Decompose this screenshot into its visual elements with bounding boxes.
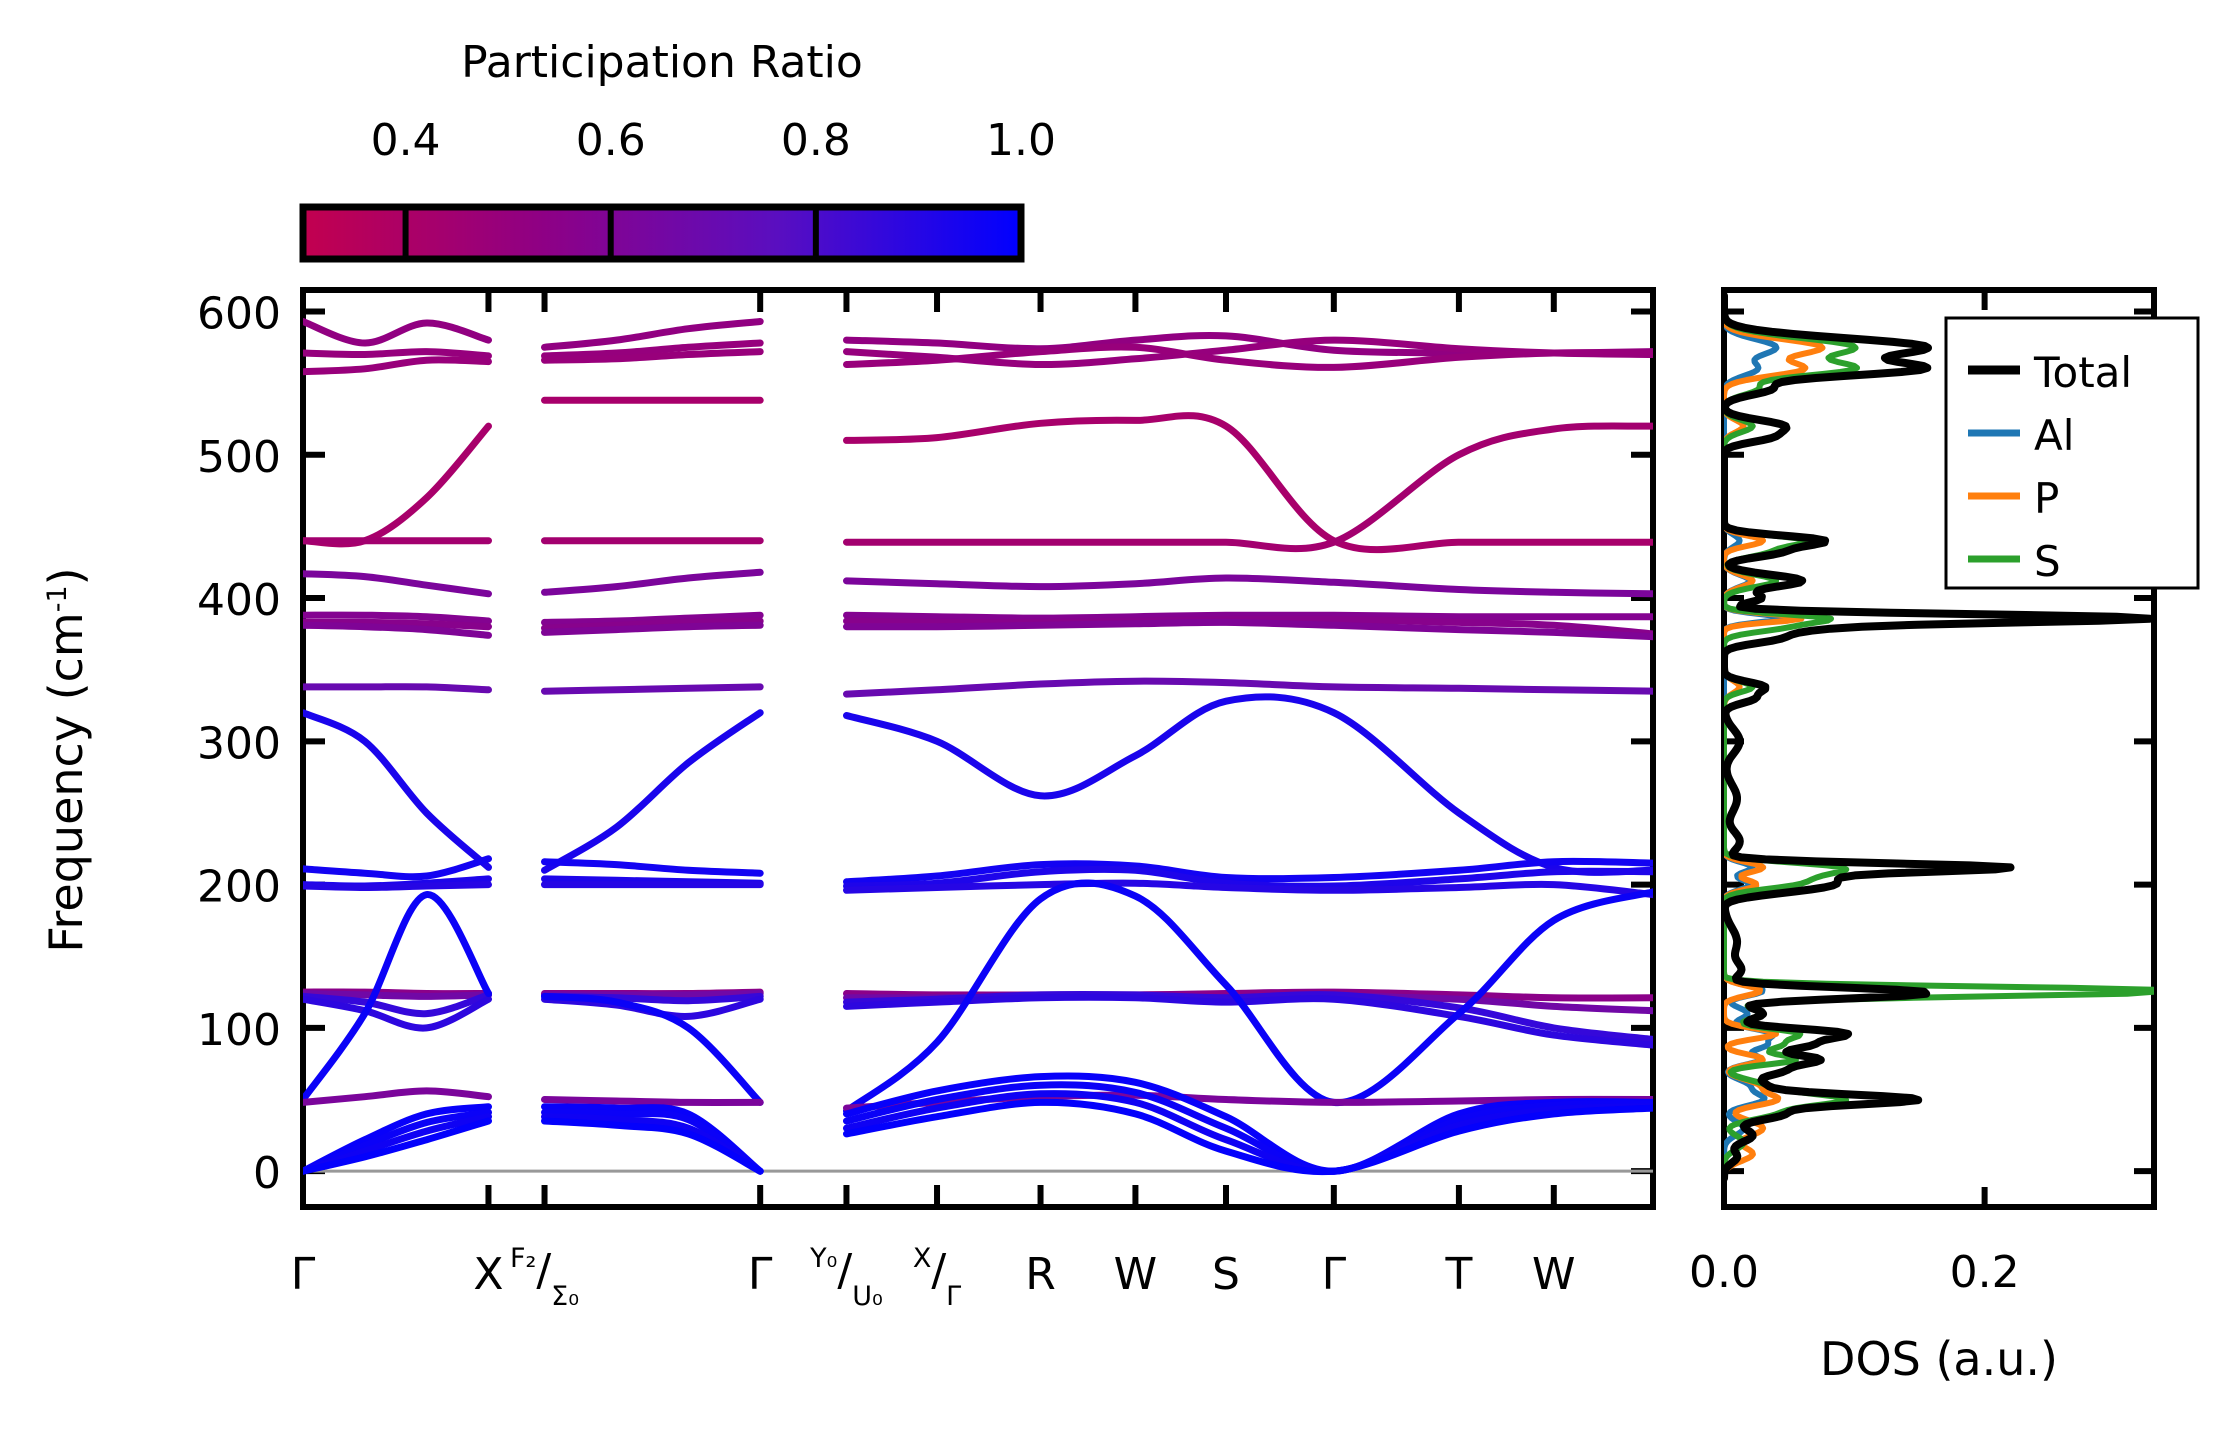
colorbar-tick-label: 1.0 <box>986 115 1056 166</box>
figure-root: Participation Ratio 0.40.60.81.0 Frequen… <box>0 0 2222 1455</box>
phonon-band-dos-figure: Participation Ratio 0.40.60.81.0 Frequen… <box>0 0 2222 1455</box>
y-tick-label: 400 <box>197 575 281 626</box>
x-tick-label: S <box>1212 1249 1240 1300</box>
band-line <box>303 352 489 356</box>
legend-label: Total <box>2033 348 2132 397</box>
colorbar-tick-label: 0.4 <box>371 115 441 166</box>
svg-text:T: T <box>1444 1249 1472 1300</box>
colorbar-tick-label: 0.8 <box>781 115 851 166</box>
x-tick-label: T <box>1444 1249 1472 1300</box>
colorbar-gradient <box>303 207 1021 259</box>
legend-label: P <box>2034 474 2059 523</box>
y-tick-label: 600 <box>197 288 281 339</box>
ylabel-text: Frequency (cm <box>39 612 93 952</box>
svg-text:W: W <box>1532 1249 1576 1300</box>
svg-text:R: R <box>1025 1249 1056 1300</box>
svg-text:X: X <box>473 1249 503 1300</box>
bands-y-axis-label: Frequency (cm-1) <box>39 567 93 952</box>
y-tick-label: 0 <box>253 1148 281 1199</box>
svg-text:S: S <box>1212 1249 1240 1300</box>
x-tick-label: W <box>1532 1249 1576 1300</box>
band-line <box>303 687 489 690</box>
x-tick-label: Γ <box>1322 1249 1347 1300</box>
dos-x-axis-label: DOS (a.u.) <box>1820 1332 2058 1386</box>
svg-text:Γ: Γ <box>291 1249 316 1300</box>
legend-label: S <box>2034 537 2061 586</box>
colorbar-title: Participation Ratio <box>461 37 863 88</box>
colorbar-tick-label: 0.6 <box>576 115 646 166</box>
x-tick-label: Γ <box>291 1249 316 1300</box>
y-tick-label: 500 <box>197 432 281 483</box>
ylabel-superscript: -1 <box>42 585 73 612</box>
y-tick-label: 100 <box>197 1005 281 1056</box>
dos-x-tick-label: 0.2 <box>1950 1247 2020 1298</box>
band-line <box>545 1100 761 1103</box>
x-tick-label: Γ <box>748 1249 773 1300</box>
x-tick-label: R <box>1025 1249 1056 1300</box>
dos-x-tick-label: 0.0 <box>1689 1247 1759 1298</box>
svg-text:Γ: Γ <box>1322 1249 1347 1300</box>
svg-text:Frequency (cm-1): Frequency (cm-1) <box>39 567 93 952</box>
legend-label: Al <box>2034 411 2074 460</box>
svg-text:W: W <box>1114 1249 1158 1300</box>
dos-legend: TotalAlPS <box>1946 318 2198 588</box>
band-line <box>303 885 489 888</box>
y-tick-label: 300 <box>197 718 281 769</box>
svg-text:Γ: Γ <box>748 1249 773 1300</box>
ylabel-closeparen: ) <box>39 567 93 585</box>
x-tick-label: W <box>1114 1249 1158 1300</box>
band-line <box>545 687 761 691</box>
y-tick-label: 200 <box>197 862 281 913</box>
x-tick-label: X <box>473 1249 503 1300</box>
